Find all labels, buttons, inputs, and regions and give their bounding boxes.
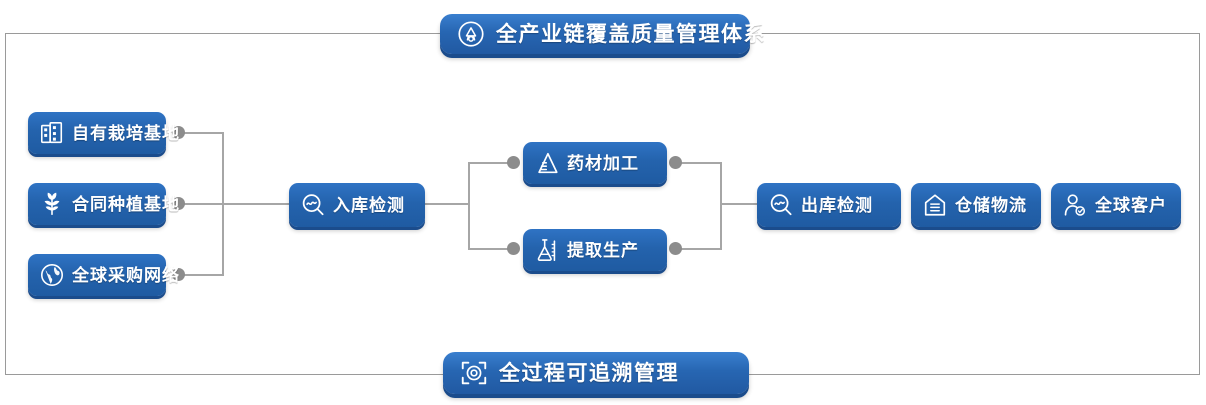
user-check-icon <box>1062 192 1088 218</box>
node-herb-processing[interactable]: 药材加工 <box>523 142 667 184</box>
warehouse-icon <box>922 192 948 218</box>
connector-contract-to-bus <box>184 203 289 205</box>
banner-bottom-traceability[interactable]: 全过程可追溯管理 <box>443 352 749 394</box>
node-label: 入库检测 <box>333 197 405 214</box>
globe-icon <box>39 262 65 288</box>
factory-icon <box>534 150 560 176</box>
connector-source-bus <box>222 132 224 276</box>
connector-global-to-bus <box>184 274 224 276</box>
node-contract-planting-base[interactable]: 合同种植基地 <box>28 183 166 225</box>
banner-bottom-label: 全过程可追溯管理 <box>499 363 679 384</box>
node-label: 全球采购网络 <box>72 267 180 284</box>
connector-dot-process-in <box>507 156 520 169</box>
diagram-canvas: 全产业链覆盖质量管理体系 自有栽培基地 合同种植基地 <box>0 0 1206 405</box>
plant-sprout-icon <box>39 191 65 217</box>
node-label: 提取生产 <box>567 242 639 259</box>
node-outbound-inspection[interactable]: 出库检测 <box>757 183 901 227</box>
building-icon <box>39 120 65 146</box>
recycle-circle-icon <box>456 19 486 49</box>
node-label: 自有栽培基地 <box>72 125 180 142</box>
node-label: 药材加工 <box>567 155 639 172</box>
node-inbound-inspection[interactable]: 入库检测 <box>289 183 425 227</box>
banner-top-quality-system[interactable]: 全产业链覆盖质量管理体系 <box>440 14 750 54</box>
connector-extract-to-merge <box>681 248 722 250</box>
banner-top-label: 全产业链覆盖质量管理体系 <box>496 24 766 45</box>
inspection-search-icon <box>300 192 326 218</box>
connector-dot-extract-in <box>507 242 520 255</box>
node-warehouse-logistics[interactable]: 仓储物流 <box>911 183 1041 227</box>
connector-process-to-merge <box>681 162 722 164</box>
node-label: 合同种植基地 <box>72 196 180 213</box>
node-global-customers[interactable]: 全球客户 <box>1051 183 1181 227</box>
node-label: 全球客户 <box>1095 197 1167 214</box>
node-extraction-production[interactable]: 提取生产 <box>523 229 667 271</box>
connector-inbound-to-split <box>425 203 470 205</box>
connector-merge-bus <box>720 162 722 250</box>
connector-split-bus <box>468 162 470 250</box>
scan-target-icon <box>459 358 489 388</box>
connector-dot-extract-out <box>669 242 682 255</box>
node-label: 仓储物流 <box>955 197 1027 214</box>
connector-merge-to-outbound <box>720 203 758 205</box>
inspection-search-icon <box>768 192 794 218</box>
node-label: 出库检测 <box>801 197 873 214</box>
node-global-procurement-network[interactable]: 全球采购网络 <box>28 254 166 296</box>
connector-dot-process-out <box>669 156 682 169</box>
node-owned-cultivation-base[interactable]: 自有栽培基地 <box>28 112 166 154</box>
flask-icon <box>534 237 560 263</box>
connector-owned-to-bus <box>184 132 224 134</box>
